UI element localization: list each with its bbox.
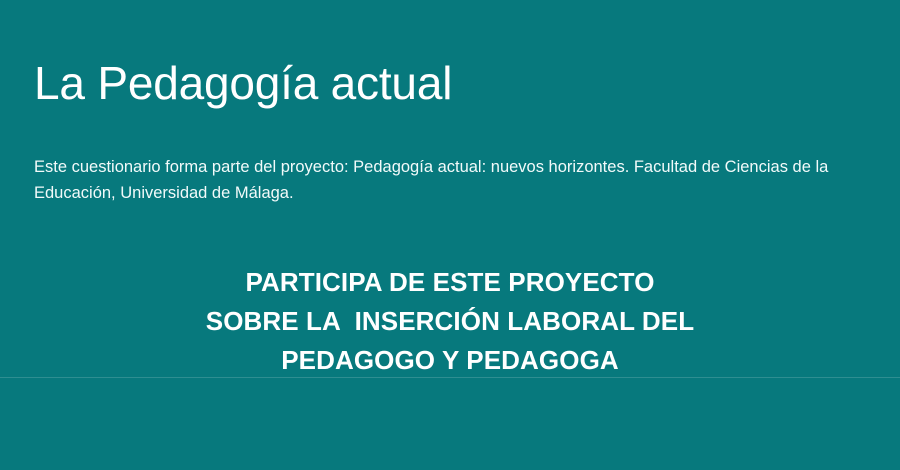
callout-line-2: SOBRE LA INSERCIÓN LABORAL DEL bbox=[0, 302, 900, 341]
page-title: La Pedagogía actual bbox=[34, 58, 884, 109]
callout-line-3: PEDAGOGO Y PEDAGOGA bbox=[0, 341, 900, 380]
footer-spacer bbox=[0, 378, 900, 470]
banner-header: La Pedagogía actual bbox=[34, 58, 884, 109]
questionnaire-banner: La Pedagogía actual Este cuestionario fo… bbox=[0, 0, 900, 470]
banner-description: Este cuestionario forma parte del proyec… bbox=[34, 154, 882, 206]
callout-line-1: PARTICIPA DE ESTE PROYECTO bbox=[0, 263, 900, 302]
callout-block: PARTICIPA DE ESTE PROYECTO SOBRE LA INSE… bbox=[0, 263, 900, 380]
